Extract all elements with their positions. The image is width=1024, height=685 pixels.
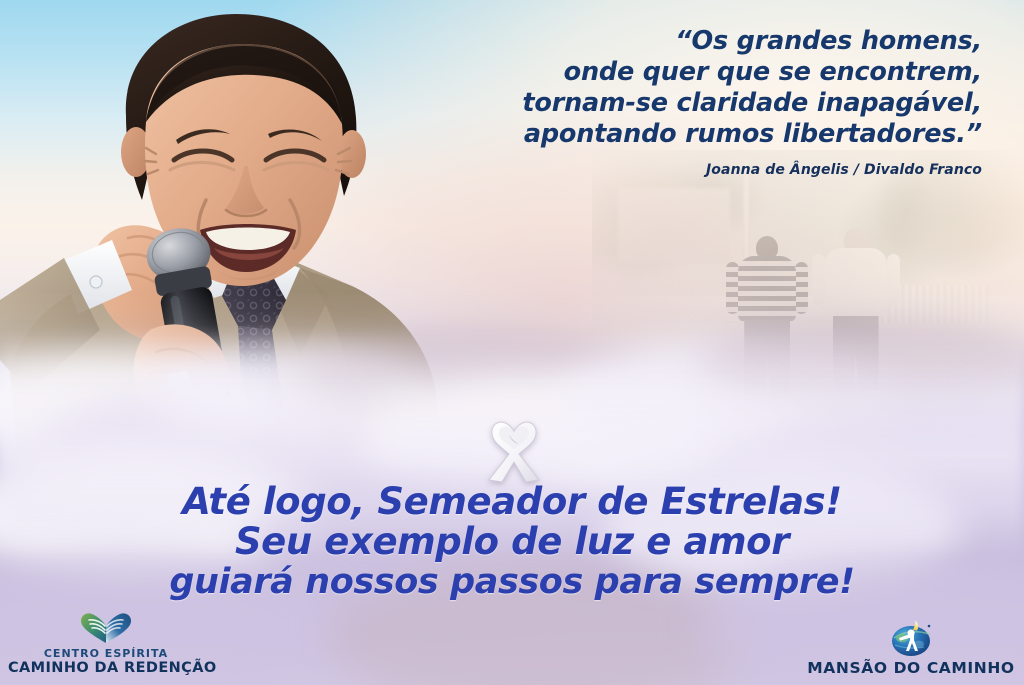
logo-left-line-top: CENTRO ESPÍRITA: [8, 647, 204, 660]
quote-line-2: onde quer que se encontrem,: [362, 57, 982, 88]
logo-centro-espirita-caminho-da-redencao[interactable]: CENTRO ESPÍRITA CAMINHO DA REDENÇÃO: [8, 611, 204, 677]
logo-left-line-main: CAMINHO DA REDENÇÃO: [8, 660, 204, 677]
mourning-ribbon-icon: [485, 414, 543, 486]
background-photo: [592, 150, 1024, 420]
background-figure-white: [817, 228, 895, 404]
quote-block: “Os grandes homens, onde quer que se enc…: [362, 26, 982, 178]
hands-heart-icon: [79, 611, 133, 645]
memorial-poster: “Os grandes homens, onde quer que se enc…: [0, 0, 1024, 685]
globe-figure-icon: [888, 618, 934, 658]
background-figure-striped: [730, 236, 804, 404]
logo-mansao-do-caminho[interactable]: MANSÃO DO CAMINHO: [804, 618, 1018, 677]
headline-line-3: guiará nossos passos para sempre!: [0, 562, 1024, 602]
headline-line-2: Seu exemplo de luz e amor: [0, 522, 1024, 562]
headline-line-1: Até logo, Semeador de Estrelas!: [0, 482, 1024, 522]
logo-right-line-main: MANSÃO DO CAMINHO: [804, 660, 1018, 677]
quote-attribution: Joanna de Ângelis / Divaldo Franco: [362, 162, 982, 178]
quote-line-3: tornam-se claridade inapagável,: [362, 88, 982, 119]
quote-line-4: apontando rumos libertadores.”: [362, 119, 982, 150]
quote-line-1: “Os grandes homens,: [362, 26, 982, 57]
headline-block: Até logo, Semeador de Estrelas! Seu exem…: [0, 482, 1024, 602]
